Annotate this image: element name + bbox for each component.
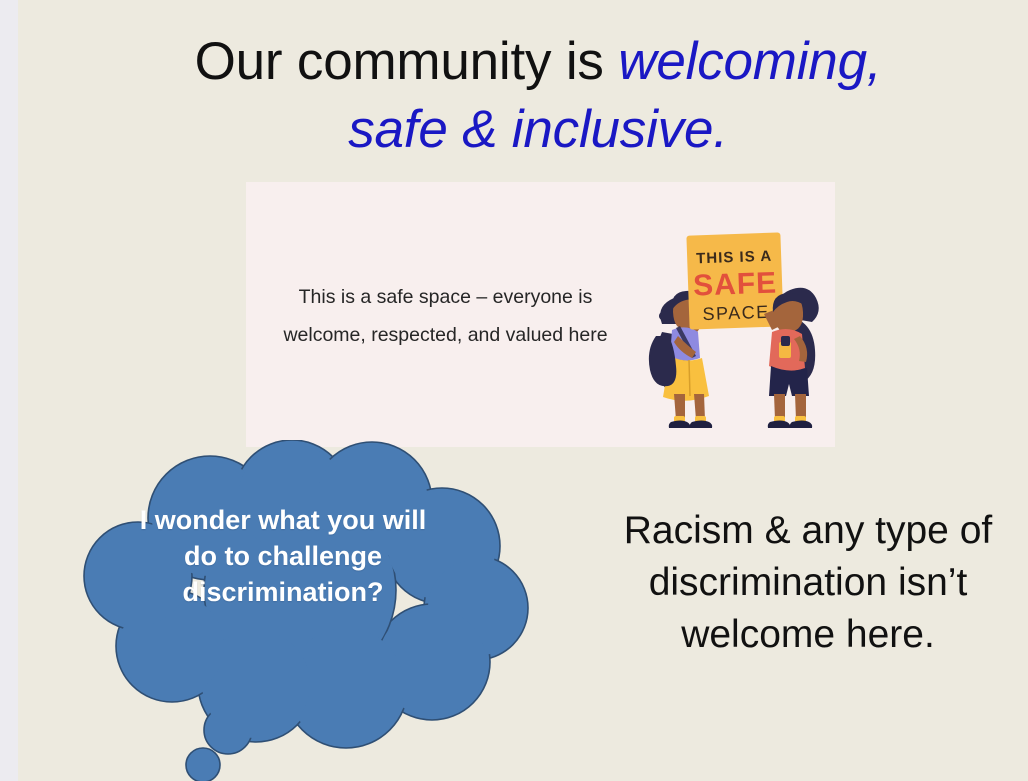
safe-space-message: This is a safe space – everyone is welco… (268, 278, 623, 354)
page-title: Our community is welcoming, safe & inclu… (138, 28, 938, 164)
statement-text: Racism & any type of discrimination isn’… (598, 505, 1018, 661)
svg-text:THIS IS A: THIS IS A (696, 248, 773, 268)
safe-space-card: This is a safe space – everyone is welco… (246, 182, 835, 447)
two-girls-holding-safe-space-sign-illustration: THIS IS A SAFE SPACE (632, 224, 832, 439)
svg-text:SAFE: SAFE (693, 267, 778, 303)
page-title-plain: Our community is (195, 32, 619, 91)
slide-canvas: Our community is welcoming, safe & inclu… (18, 0, 1028, 781)
slide-root: Our community is welcoming, safe & inclu… (0, 0, 1028, 781)
thought-bubble: I wonder what you will do to challenge d… (60, 440, 560, 781)
svg-text:SPACE: SPACE (702, 302, 770, 324)
thought-bubble-text: I wonder what you will do to challenge d… (138, 503, 428, 611)
